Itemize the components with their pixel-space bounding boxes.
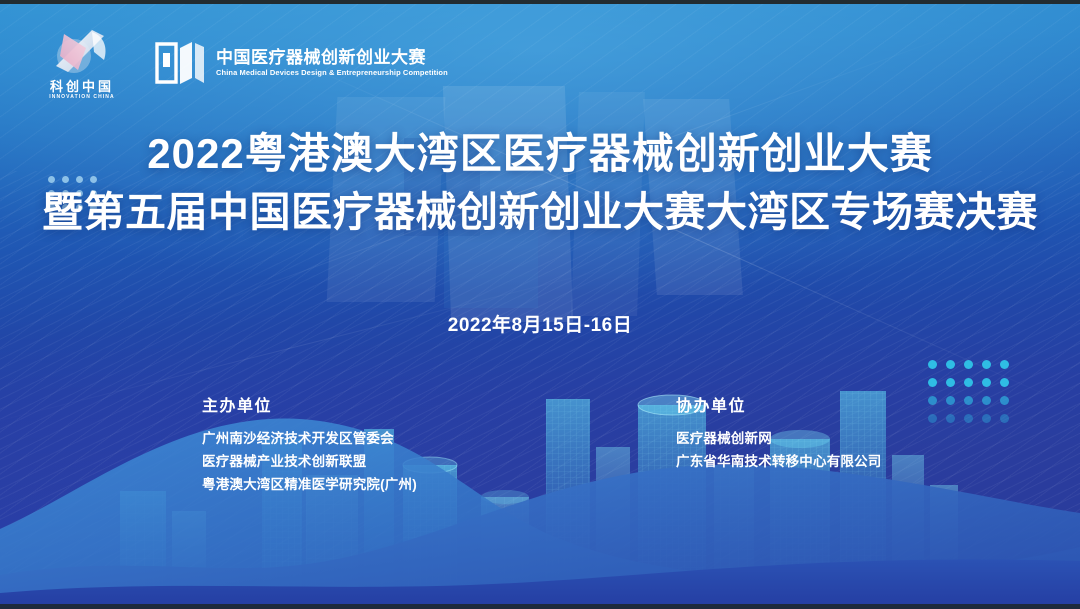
bottom-edge-strip: [0, 604, 1080, 609]
logo-cmd-cn: 中国医疗器械创新创业大赛: [216, 49, 448, 67]
logo-bar: 科创中国 INNOVATION CHINA 中国医疗器械创新创业大赛 China…: [34, 26, 448, 100]
logo-cmd-en: China Medical Devices Design & Entrepren…: [216, 69, 448, 77]
butterfly-bird-mark-icon: [34, 26, 130, 82]
logo-cmd-text: 中国医疗器械创新创业大赛 China Medical Devices Desig…: [216, 49, 448, 78]
top-edge-strip: [0, 0, 1080, 4]
title-line-1: 2022粤港澳大湾区医疗器械创新创业大赛: [0, 126, 1080, 181]
organizer-coorganizer: 协办单位 医疗器械创新网 广东省华南技术转移中心有限公司: [676, 392, 882, 473]
organizer-co-entry: 医疗器械创新网: [676, 427, 882, 450]
event-date: 2022年8月15日-16日: [0, 310, 1080, 337]
logo-kechuang-en: INNOVATION CHINA: [34, 95, 130, 100]
open-book-door-mark-icon: [154, 38, 206, 88]
page-title: 2022粤港澳大湾区医疗器械创新创业大赛 暨第五届中国医疗器械创新创业大赛大湾区…: [0, 126, 1080, 241]
logo-kechuang-text: 科创中国 INNOVATION CHINA: [34, 80, 130, 100]
organizer-host: 主办单位 广州南沙经济技术开发区管委会 医疗器械产业技术创新联盟 粤港澳大湾区精…: [202, 392, 417, 497]
organizer-host-entry: 医疗器械产业技术创新联盟: [202, 450, 417, 473]
logo-kechuang-zhongguo: 科创中国 INNOVATION CHINA: [34, 26, 130, 100]
organizer-host-entry: 粤港澳大湾区精准医学研究院(广州): [202, 473, 417, 496]
event-poster: 科创中国 INNOVATION CHINA 中国医疗器械创新创业大赛 China…: [0, 0, 1080, 609]
logo-china-medical-devices: 中国医疗器械创新创业大赛 China Medical Devices Desig…: [154, 38, 448, 88]
organizer-co-entry: 广东省华南技术转移中心有限公司: [676, 450, 882, 473]
organizer-host-entry: 广州南沙经济技术开发区管委会: [202, 427, 417, 450]
organizer-co-heading: 协办单位: [676, 392, 882, 416]
logo-kechuang-cn: 科创中国: [34, 80, 130, 93]
organizer-host-heading: 主办单位: [202, 392, 417, 416]
title-line-2: 暨第五届中国医疗器械创新创业大赛大湾区专场赛决赛: [0, 185, 1080, 241]
